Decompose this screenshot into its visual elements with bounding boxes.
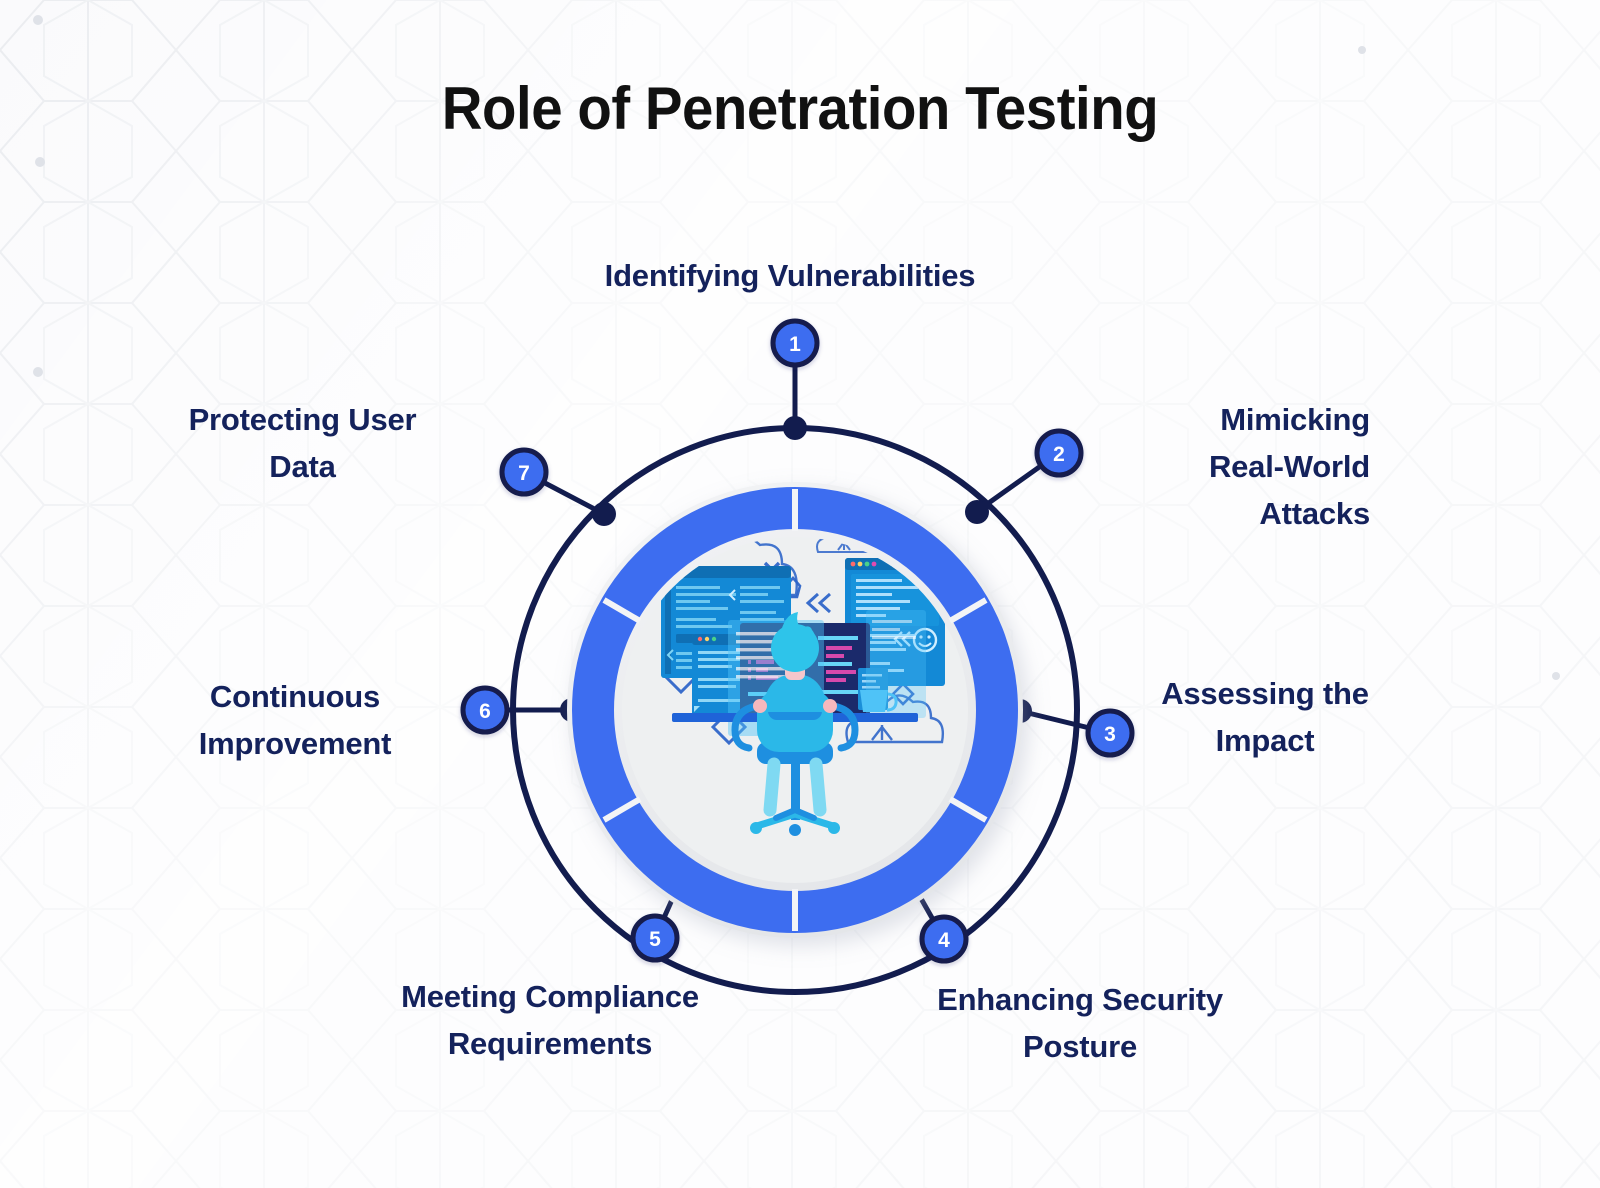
badge-5-number: 5	[649, 928, 661, 951]
item-label-continuous-improvement: Continuous Improvement	[130, 673, 460, 767]
badge-6[interactable]: 6	[463, 688, 507, 732]
badge-7-number: 7	[518, 462, 530, 485]
ring-dot-1	[783, 416, 807, 440]
label-line: Attacks	[1060, 490, 1370, 537]
badge-7[interactable]: 7	[502, 450, 546, 494]
label-line: Identifying Vulnerabilities	[430, 252, 1150, 299]
badge-5[interactable]: 5	[633, 916, 677, 960]
item-label-mimicking-real-world-attacks: Mimicking Real-World Attacks	[1060, 396, 1370, 537]
badge-4-number: 4	[938, 929, 950, 952]
label-line: Mimicking	[1060, 396, 1370, 443]
label-line: Meeting Compliance	[340, 973, 760, 1020]
item-label-meeting-compliance-requirements: Meeting Compliance Requirements	[340, 973, 760, 1067]
label-line: Protecting User	[140, 396, 465, 443]
item-label-protecting-user-data: Protecting User Data	[140, 396, 465, 490]
item-label-identifying-vulnerabilities: Identifying Vulnerabilities	[430, 252, 1150, 299]
label-line: Continuous	[130, 673, 460, 720]
ring-dot-7	[592, 502, 616, 526]
item-label-enhancing-security-posture: Enhancing Security Posture	[880, 976, 1280, 1070]
badge-1-number: 1	[789, 333, 801, 356]
label-line: Impact	[1110, 717, 1420, 764]
label-line: Improvement	[130, 720, 460, 767]
label-line: Requirements	[340, 1020, 760, 1067]
label-line: Posture	[880, 1023, 1280, 1070]
ring-dot-2	[965, 500, 989, 524]
badge-4[interactable]: 4	[922, 917, 966, 961]
badge-6-number: 6	[479, 700, 491, 723]
radial-diagram: 1 2 3 4 5 6 7	[0, 0, 1600, 1188]
label-line: Assessing the	[1110, 670, 1420, 717]
item-label-assessing-the-impact: Assessing the Impact	[1110, 670, 1420, 764]
badge-1[interactable]: 1	[773, 321, 817, 365]
label-line: Data	[140, 443, 465, 490]
label-line: Enhancing Security	[880, 976, 1280, 1023]
infographic-canvas: Role of Penetration Testing	[0, 0, 1600, 1188]
label-line: Real-World	[1060, 443, 1370, 490]
